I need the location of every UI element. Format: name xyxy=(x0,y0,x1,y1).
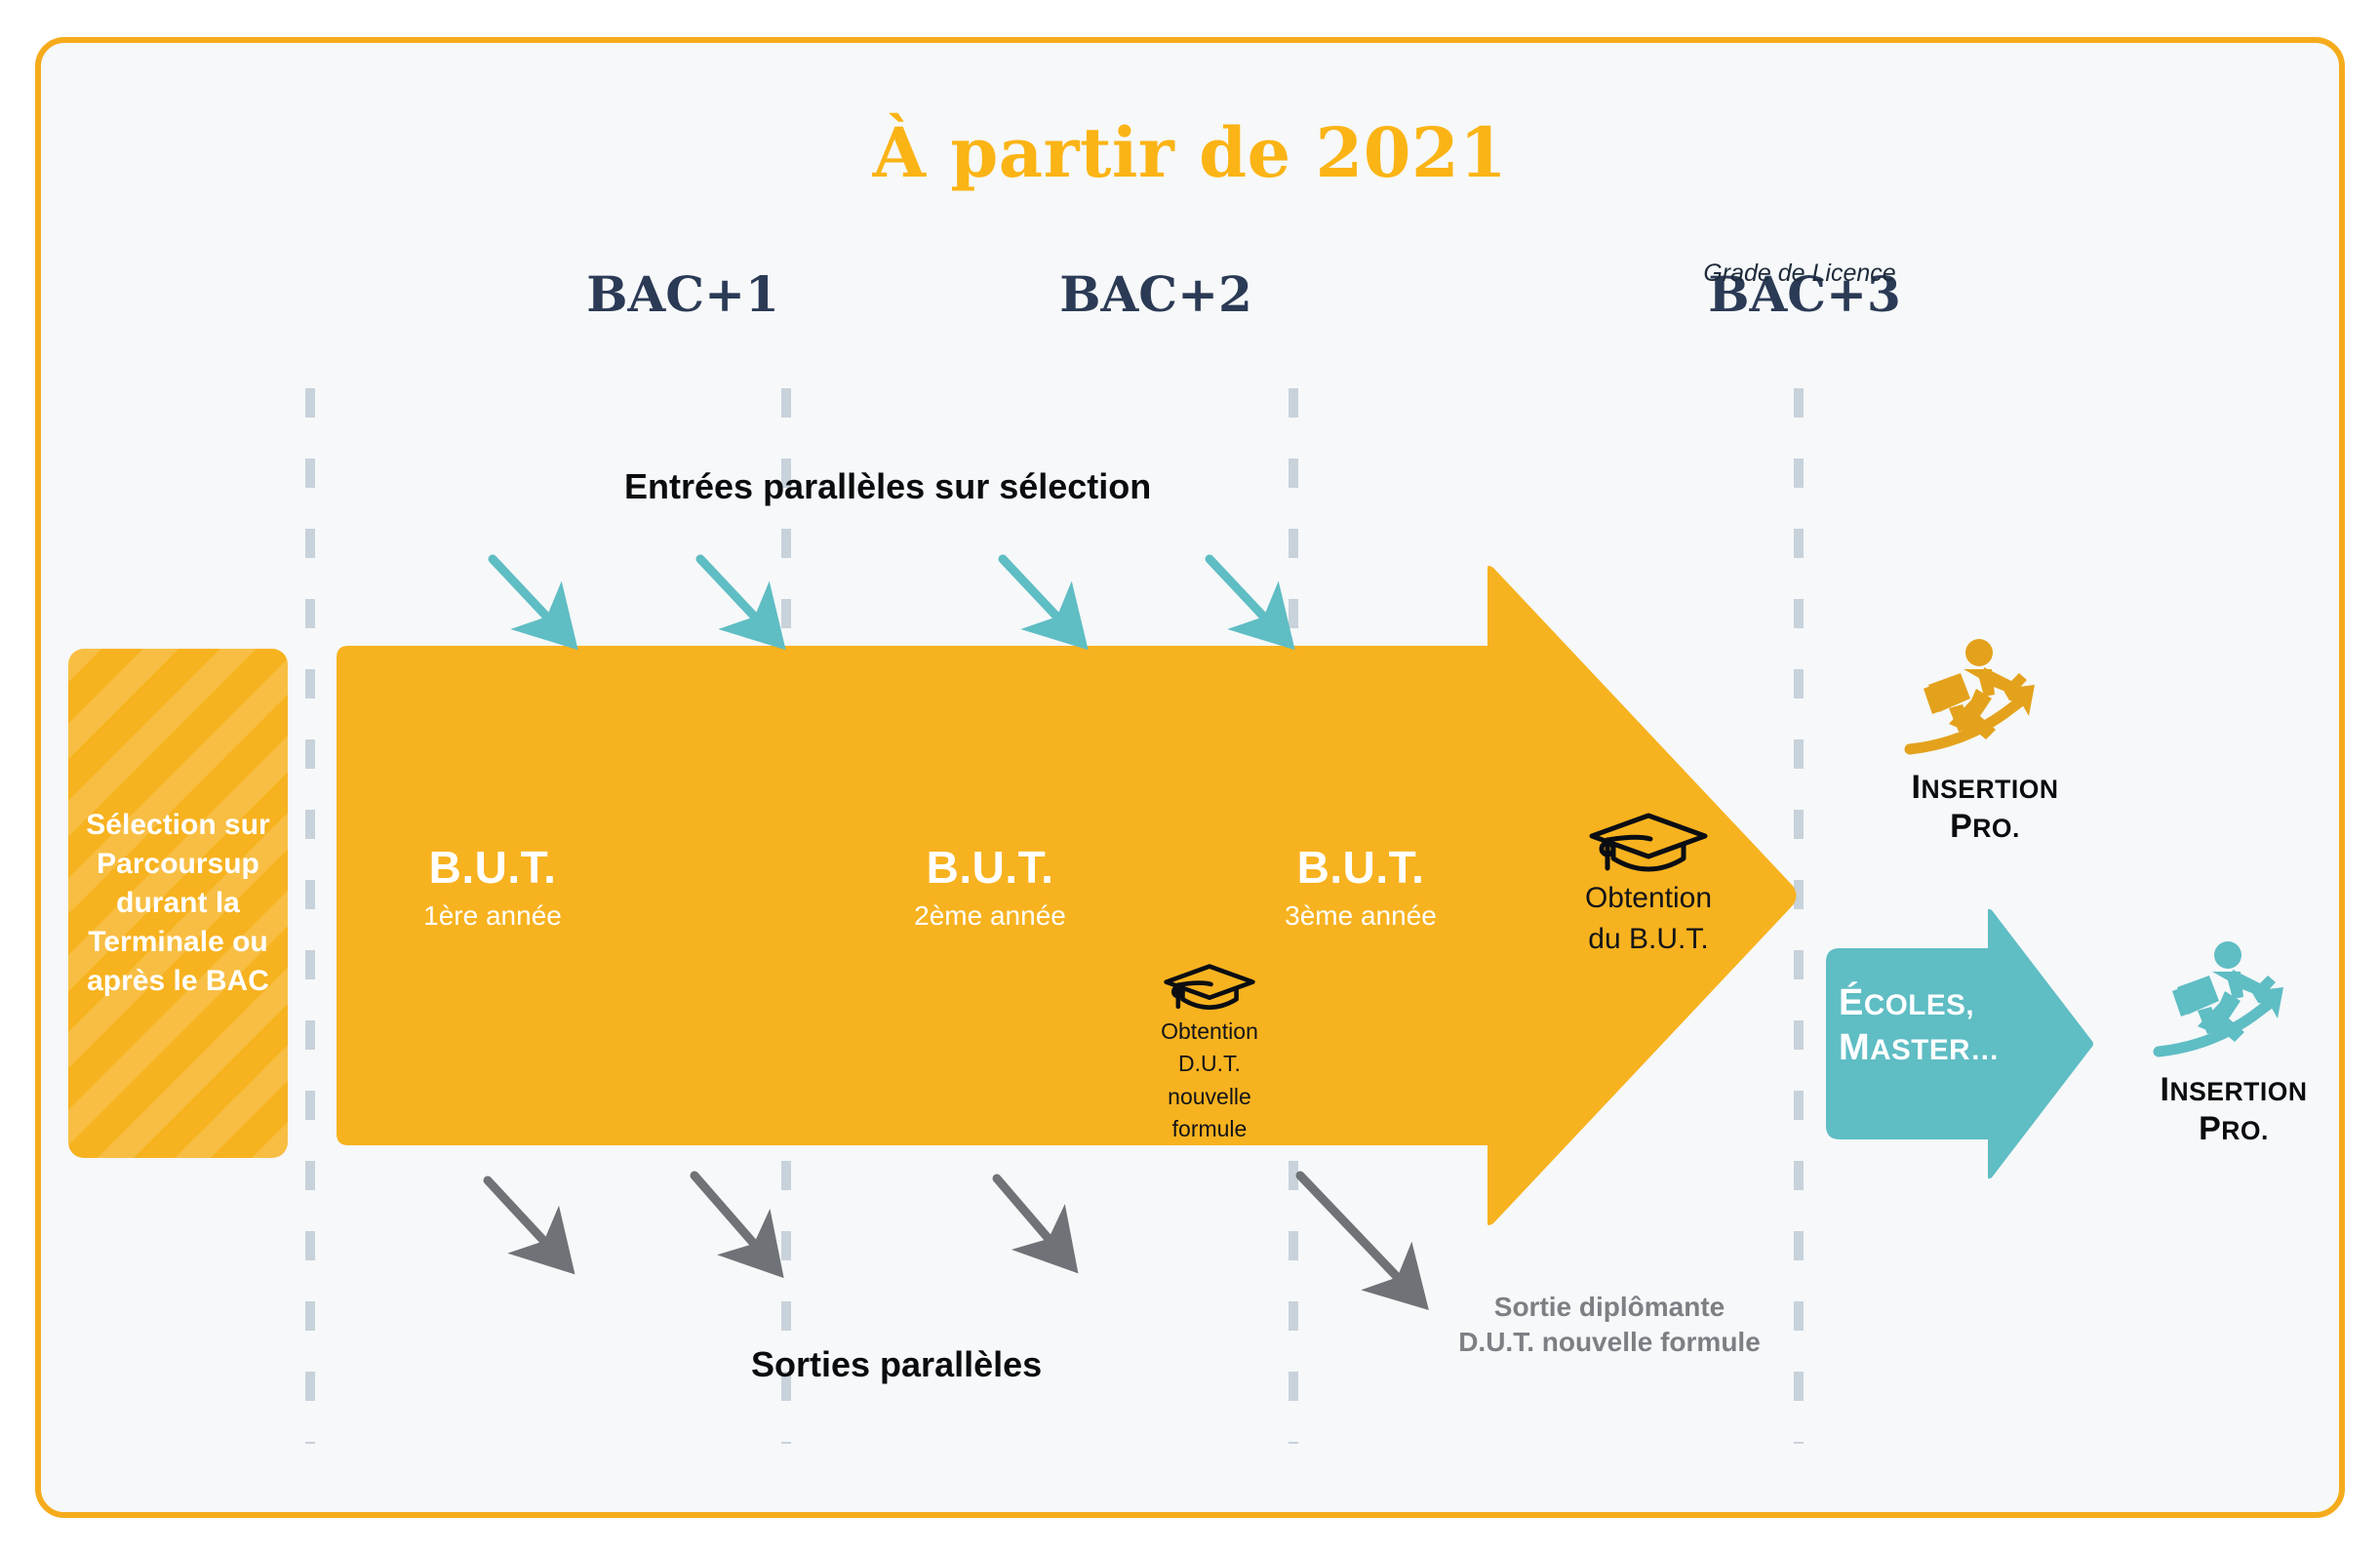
stage-subtitle-3: 3ème année xyxy=(1195,900,1527,932)
infographic-root: À partir de 2021 BAC+1 BAC+2 BAC+3 Grade… xyxy=(0,0,2380,1555)
obtention-dut-line-2: D.U.T. xyxy=(1112,1050,1307,1078)
milestone-label-bac2: BAC+2 xyxy=(1000,265,1312,323)
obtention-dut-line-4: formule xyxy=(1112,1115,1307,1143)
obtention-but-line-1: Obtention xyxy=(1527,880,1770,917)
insertion-pro-top-line-1: INSERTION xyxy=(1839,768,2131,807)
selection-line-1: Sélection sur xyxy=(86,806,269,845)
insertion-pro-bottom-line-1: INSERTION xyxy=(2087,1070,2380,1109)
selection-line-4: Terminale ou xyxy=(86,923,269,962)
sortie-diplomante-note: Sortie diplômante D.U.T. nouvelle formul… xyxy=(1414,1290,1805,1360)
timeline-divider-bac0 xyxy=(305,388,315,1444)
stage-title-3: B.U.T. xyxy=(1195,844,1527,891)
stage-but-year3: B.U.T. 3ème année xyxy=(1195,844,1527,932)
obtention-but-line-2: du B.U.T. xyxy=(1527,921,1770,958)
stage-but-year2: B.U.T. 2ème année xyxy=(824,844,1156,932)
parallel-entries-label: Entrées parallèles sur sélection xyxy=(624,466,1151,507)
graduation-cap-icon xyxy=(1586,810,1711,876)
insertion-pro-bottom-line-2: PRO. xyxy=(2087,1109,2380,1148)
parcoursup-selection-box: Sélection sur Parcoursup durant la Termi… xyxy=(68,649,288,1158)
sortie-diplomante-line-2: D.U.T. nouvelle formule xyxy=(1414,1325,1805,1360)
stage-but-year1: B.U.T. 1ère année xyxy=(327,844,658,932)
parallel-exits-label: Sorties parallèles xyxy=(751,1344,1042,1385)
obtention-dut-line-1: Obtention xyxy=(1112,1017,1307,1046)
outcome-insertion-pro-bottom: INSERTION PRO. xyxy=(2087,937,2380,1148)
ecoles-master-line-1: ÉCOLES, xyxy=(1839,980,2043,1025)
parcoursup-selection-text: Sélection sur Parcoursup durant la Termi… xyxy=(80,806,275,1000)
insertion-pro-top-line-2: PRO. xyxy=(1839,807,2131,846)
obtention-dut-line-3: nouvelle xyxy=(1112,1083,1307,1111)
running-person-arrow-icon xyxy=(2151,937,2317,1065)
milestone-label-bac1: BAC+1 xyxy=(527,265,839,323)
stage-subtitle-2: 2ème année xyxy=(824,900,1156,932)
stage-title-2: B.U.T. xyxy=(824,844,1156,891)
running-person-arrow-icon xyxy=(1902,634,2068,763)
outcome-insertion-pro-top: INSERTION PRO. xyxy=(1839,634,2131,846)
obtention-dut-block: Obtention D.U.T. nouvelle formule xyxy=(1112,961,1307,1144)
selection-line-3: durant la xyxy=(86,884,269,923)
sortie-diplomante-line-1: Sortie diplômante xyxy=(1414,1290,1805,1325)
grade-de-licence-note: Grade de Licence xyxy=(1644,259,1956,288)
ecoles-master-label: ÉCOLES, MASTER… xyxy=(1839,980,2043,1071)
obtention-but-block: Obtention du B.U.T. xyxy=(1527,810,1770,957)
selection-line-5: après le BAC xyxy=(86,962,269,1001)
stage-title-1: B.U.T. xyxy=(327,844,658,891)
graduation-cap-icon xyxy=(1162,961,1257,1014)
page-title: À partir de 2021 xyxy=(0,112,2380,193)
stage-subtitle-1: 1ère année xyxy=(327,900,658,932)
selection-line-2: Parcoursup xyxy=(86,845,269,884)
ecoles-master-line-2: MASTER… xyxy=(1839,1025,2043,1070)
